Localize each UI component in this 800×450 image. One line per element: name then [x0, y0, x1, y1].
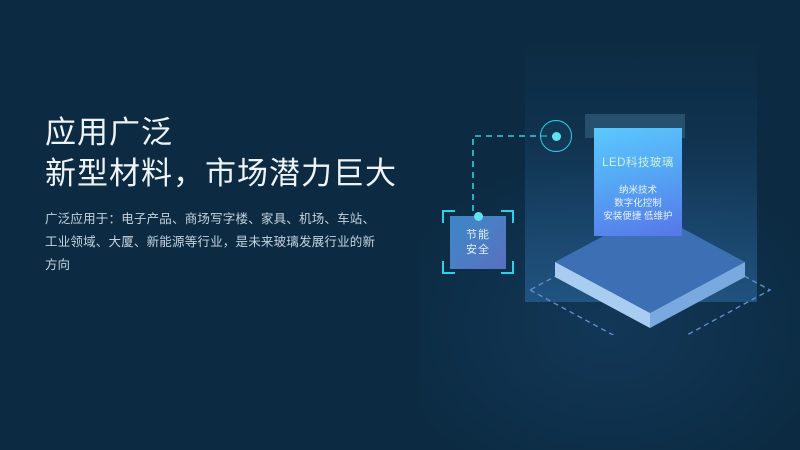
bracket-bottom-right-icon	[501, 261, 514, 274]
feature-badge-line-1: 节能	[466, 228, 490, 243]
node-circle-icon[interactable]	[540, 120, 572, 152]
slide-canvas: 节能 安全 LED科技玻璃 纳米技术 数字化控制 安装便捷 低维护 应用广泛 新…	[0, 0, 800, 450]
feature-badge-dot	[474, 212, 483, 221]
platform-left-face	[555, 262, 650, 328]
glass-panel[interactable]: LED科技玻璃 纳米技术 数字化控制 安装便捷 低维护	[594, 128, 682, 236]
feature-badge-box: 节能 安全	[450, 216, 506, 269]
headline-line-1: 应用广泛	[45, 112, 445, 153]
headline-line-2: 新型材料，市场潜力巨大	[45, 153, 445, 194]
glass-panel-feature-list: 纳米技术 数字化控制 安装便捷 低维护	[603, 184, 672, 223]
platform-right-face	[650, 262, 745, 328]
node-circle-dot	[552, 132, 561, 141]
body-paragraph: 广泛应用于：电子产品、商场写字楼、家具、机场、车站、工业领域、大厦、新能源等行业…	[45, 208, 375, 277]
platform-dashed-outline	[530, 225, 770, 335]
glass-panel-feature: 纳米技术	[619, 184, 657, 197]
bracket-top-right-icon	[501, 210, 514, 223]
feature-badge-line-2: 安全	[466, 243, 490, 258]
glass-panel-title: LED科技玻璃	[602, 154, 674, 170]
glass-panel-feature: 安装便捷 低维护	[603, 210, 672, 223]
text-block: 应用广泛 新型材料，市场潜力巨大 广泛应用于：电子产品、商场写字楼、家具、机场、…	[45, 112, 445, 277]
feature-badge[interactable]: 节能 安全	[440, 208, 516, 276]
glass-panel-feature: 数字化控制	[614, 197, 662, 210]
